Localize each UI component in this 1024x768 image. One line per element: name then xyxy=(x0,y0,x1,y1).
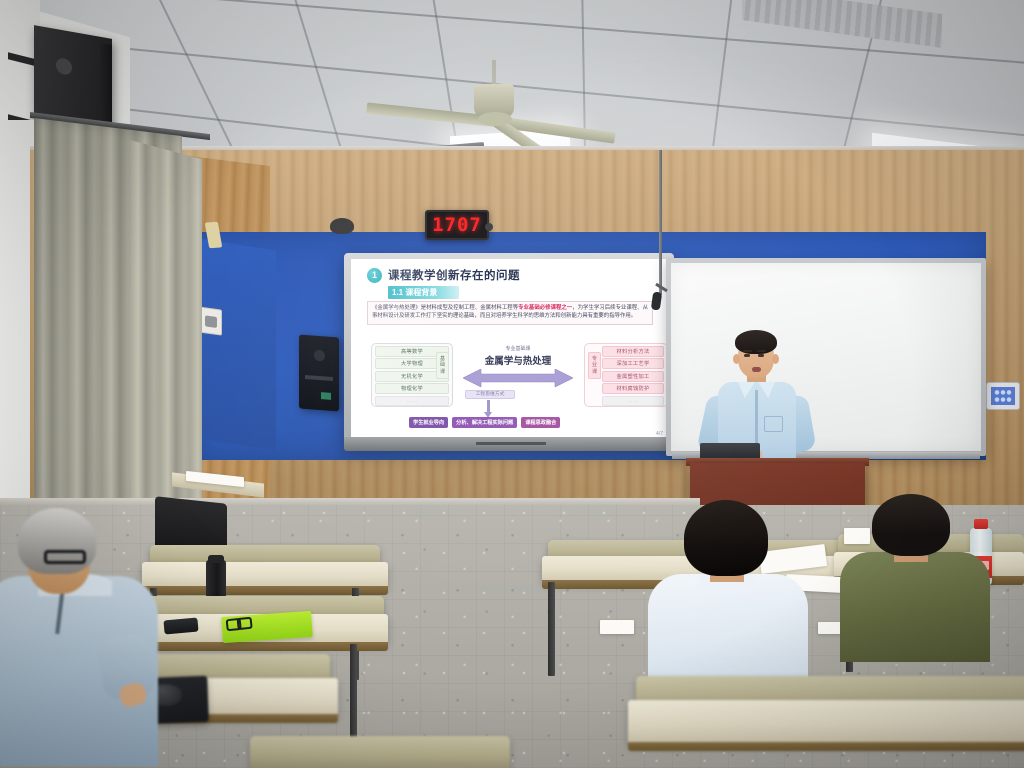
slide-bottom-tag: 课程思政融合 xyxy=(521,417,560,428)
screen-bottom-bar xyxy=(344,437,674,451)
attendee-right-head xyxy=(872,494,950,556)
slide-paragraph: 《金属学与热处理》是材料成型及控制工程、金属材料工程等专业基础必修课程之一，为学… xyxy=(367,301,653,325)
slide-section-badge: 1 xyxy=(367,268,382,283)
control-unit-lens-icon xyxy=(314,350,325,362)
presenter-hair xyxy=(735,330,777,354)
slide-bottom-tag: 分析、解决工程实际问题 xyxy=(452,417,517,428)
bench-foreground xyxy=(250,736,510,768)
slide-middle-tag: 工程思维方式 xyxy=(465,390,515,399)
presenter-eye-left xyxy=(744,354,750,357)
presenter-brow-left xyxy=(743,350,752,352)
slide-center-title: 金属学与热处理 xyxy=(459,353,577,367)
slide-title-row: 1 课程教学创新存在的问题 xyxy=(367,267,520,283)
ceiling-fan-rod xyxy=(492,60,496,86)
right-group-tab: 专业课 xyxy=(588,352,601,379)
presenter-ear-right xyxy=(772,354,779,364)
desk-edge xyxy=(628,742,1024,751)
papers-stack-c xyxy=(600,620,634,634)
right-course-item-more: …… xyxy=(602,396,664,406)
attendee-right xyxy=(872,494,1024,624)
attendee-front-left-glasses-icon xyxy=(44,550,86,564)
right-course-item: 材料分析方法 xyxy=(602,346,664,357)
left-group-tab: 基础课 xyxy=(436,352,449,379)
attendee-front-left-hair xyxy=(18,508,96,574)
left-course-item: 物理化学 xyxy=(375,383,449,394)
control-unit-slot xyxy=(305,375,333,381)
screen-surface: 1 课程教学创新存在的问题 1.1 课程背景 《金属学与热处理》是材料成型及控制… xyxy=(351,259,667,439)
desk-leg xyxy=(350,644,357,744)
right-course-item: 材料腐蚀防护 xyxy=(602,383,664,394)
slide-subtitle: 1.1 课程背景 xyxy=(388,286,459,299)
wall-control-unit[interactable] xyxy=(299,335,339,412)
slide-right-course-group: 材料分析方法 深加工工艺学 金属塑性加工 材料腐蚀防护 …… 专业课 xyxy=(584,343,667,407)
slide-title: 课程教学创新存在的问题 xyxy=(388,267,520,283)
right-course-item: 深加工工艺学 xyxy=(602,358,664,369)
attendee-center xyxy=(684,500,854,650)
desk-row3-right xyxy=(628,700,1024,744)
digital-clock: 1707 xyxy=(425,210,489,240)
attendee-center-head xyxy=(684,500,768,576)
presenter-shirt-pocket xyxy=(764,416,783,432)
right-course-item: 金属塑性加工 xyxy=(602,371,664,382)
presenter-brow-right xyxy=(757,350,766,352)
slide-bottom-tag-row: 学生就业导向 分析、解决工程实际问题 课程思政融合 xyxy=(409,417,560,428)
control-unit-led-icon xyxy=(321,392,331,400)
presenter-ear-left xyxy=(733,354,740,364)
speaker-cone-icon xyxy=(56,57,72,76)
presenter-eye-right xyxy=(758,354,764,357)
clock-side-knob xyxy=(485,223,493,231)
attendee-right-body xyxy=(840,552,990,662)
slide-bottom-tag: 学生就业导向 xyxy=(409,417,448,428)
left-course-item-more: …… xyxy=(375,396,449,406)
down-arrow-icon xyxy=(487,400,490,413)
microphone-boom xyxy=(659,150,662,295)
double-headed-arrow-icon xyxy=(463,369,573,387)
wall-sensor-icon xyxy=(330,218,354,234)
slide-center-caption: 专业基础课 xyxy=(459,345,577,352)
presenter-mouth xyxy=(752,367,761,372)
ceiling-fan-hub xyxy=(478,112,512,126)
desk-leg xyxy=(548,582,555,676)
clock-time-display: 1707 xyxy=(432,214,482,236)
wall-touch-panel[interactable] xyxy=(986,382,1020,410)
attendee-front-left xyxy=(2,508,202,768)
eyeglasses-icon xyxy=(226,617,253,629)
presentation-slide: 1 课程教学创新存在的问题 1.1 课程背景 《金属学与热处理》是材料成型及控制… xyxy=(351,259,667,439)
slide-left-course-group: 高等数学 大学物理 无机化学 物理化学 …… 基础课 xyxy=(371,343,453,407)
blue-acoustic-panel-left xyxy=(196,238,276,451)
smart-display-screen[interactable]: 1 课程教学创新存在的问题 1.1 课程背景 《金属学与热处理》是材料成型及控制… xyxy=(344,253,674,447)
classroom-scene: 1707 1 课程教学创新存在的问题 1.1 课程背景 《金属学与热处理》是材料… xyxy=(0,0,1024,768)
